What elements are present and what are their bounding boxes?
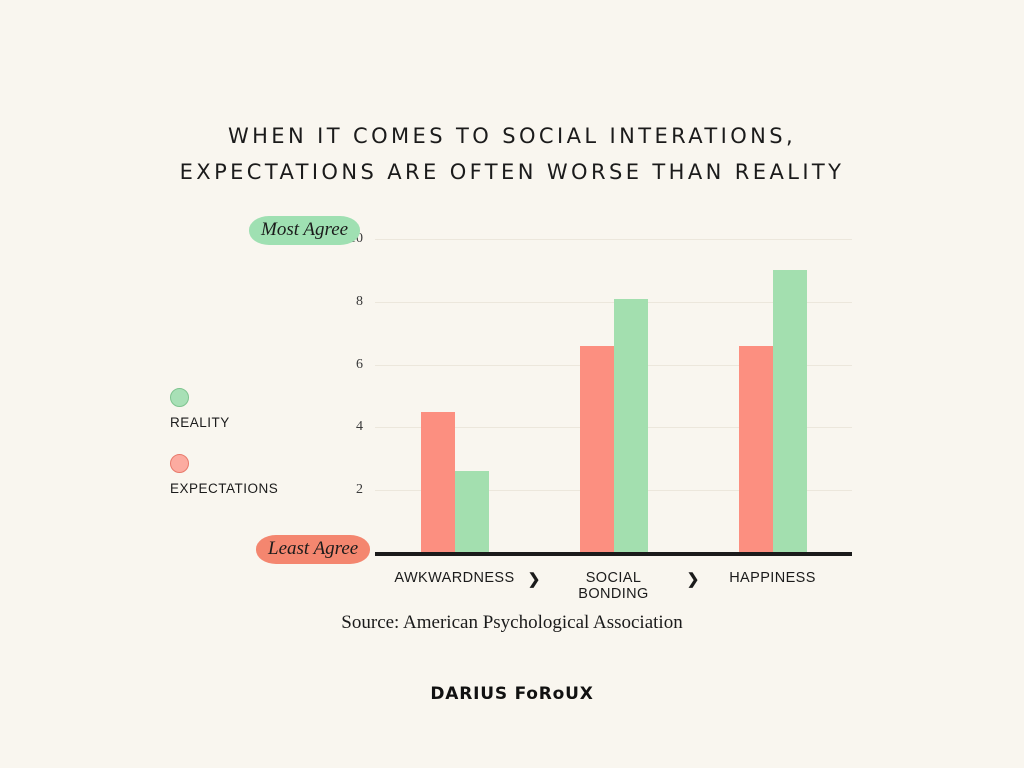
legend-label-reality: REALITY bbox=[170, 415, 320, 430]
bar-expectations-awkwardness[interactable] bbox=[421, 412, 455, 553]
category-label-awkwardness: AWKWARDNESS bbox=[375, 570, 535, 586]
author-signature: DARIUS FoRoUX bbox=[0, 684, 1024, 704]
x-axis-category-labels: AWKWARDNESS❯SOCIAL BONDING❯HAPPINESS bbox=[375, 570, 852, 610]
source-note: Source: American Psychological Associati… bbox=[0, 612, 1024, 634]
page-title: WHEN IT COMES TO SOCIAL INTERATIONS, EXP… bbox=[0, 118, 1024, 190]
category-label-social-bonding: SOCIAL BONDING bbox=[534, 570, 694, 602]
reality-circle-icon bbox=[170, 388, 189, 407]
bar-reality-happiness[interactable] bbox=[773, 270, 807, 553]
gridline bbox=[375, 239, 852, 240]
annotation-least-agree: Least Agree bbox=[256, 535, 370, 564]
y-axis-tick-label: 2 bbox=[323, 482, 363, 498]
expectations-circle-icon bbox=[170, 454, 189, 473]
y-axis-tick-label: 6 bbox=[323, 357, 363, 373]
bar-reality-awkwardness[interactable] bbox=[455, 471, 489, 553]
annotation-most-agree: Most Agree bbox=[249, 216, 360, 245]
bar-expectations-happiness[interactable] bbox=[739, 346, 773, 553]
legend-item-expectations: EXPECTATIONS bbox=[170, 454, 320, 496]
y-axis-tick-label: 4 bbox=[323, 419, 363, 435]
legend-item-reality: REALITY bbox=[170, 388, 320, 430]
chart-plot-area bbox=[375, 239, 852, 553]
x-axis-baseline bbox=[375, 552, 852, 556]
legend-label-expectations: EXPECTATIONS bbox=[170, 481, 320, 496]
bar-expectations-social-bonding[interactable] bbox=[580, 346, 614, 553]
bar-reality-social-bonding[interactable] bbox=[614, 299, 648, 553]
category-label-happiness: HAPPINESS bbox=[693, 570, 853, 586]
chart-legend: REALITY EXPECTATIONS bbox=[170, 388, 320, 520]
y-axis-tick-label: 8 bbox=[323, 294, 363, 310]
